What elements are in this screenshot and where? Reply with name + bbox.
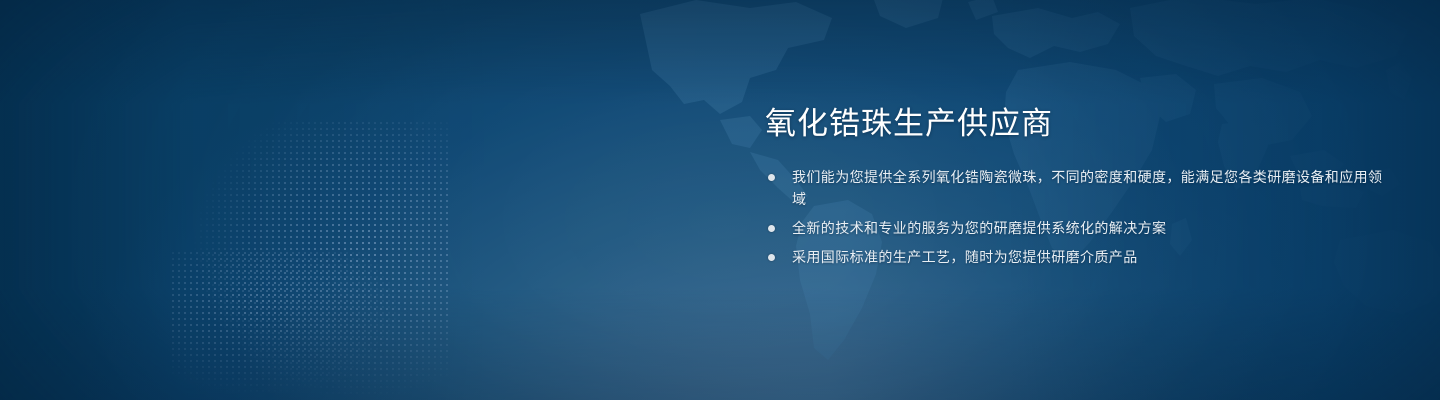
list-item-label: 采用国际标准的生产工艺，随时为您提供研磨介质产品 [792,246,1385,268]
bullet-dot-icon [768,174,775,181]
bullet-dot-icon [768,225,775,232]
list-item-label: 全新的技术和专业的服务为您的研磨提供系统化的解决方案 [792,217,1385,239]
list-item-label: 我们能为您提供全系列氧化锆陶瓷微珠，不同的密度和硬度，能满足您各类研磨设备和应用… [792,166,1385,210]
list-item: 我们能为您提供全系列氧化锆陶瓷微珠，不同的密度和硬度，能满足您各类研磨设备和应用… [765,166,1385,210]
list-item: 全新的技术和专业的服务为您的研磨提供系统化的解决方案 [765,217,1385,239]
bullet-dot-icon [768,254,775,261]
banner-headline: 氧化锆珠生产供应商 [765,104,1385,144]
list-item: 采用国际标准的生产工艺，随时为您提供研磨介质产品 [765,246,1385,268]
banner-content: 氧化锆珠生产供应商 我们能为您提供全系列氧化锆陶瓷微珠，不同的密度和硬度，能满足… [765,104,1385,268]
banner-feature-list: 我们能为您提供全系列氧化锆陶瓷微珠，不同的密度和硬度，能满足您各类研磨设备和应用… [765,166,1385,268]
hero-banner: 氧化锆珠生产供应商 我们能为您提供全系列氧化锆陶瓷微珠，不同的密度和硬度，能满足… [0,0,1440,400]
